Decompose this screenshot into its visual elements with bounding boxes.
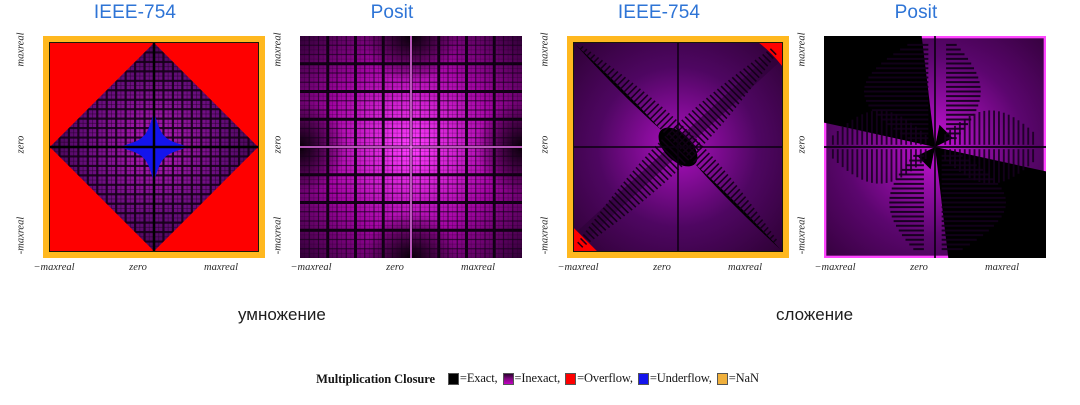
legend-item-nan: =NaN <box>717 371 759 386</box>
legend-label: =NaN <box>729 371 759 386</box>
plot-canvas <box>824 36 1046 258</box>
plot-canvas <box>49 42 259 252</box>
legend-label: =Underflow, <box>650 371 712 386</box>
legend-label: =Inexact, <box>515 371 561 386</box>
x-axis-tick: −maxreal <box>23 262 85 273</box>
closure-panel-ieee-mul: IEEE-754maxrealzero-maxreal−maxrealzerom… <box>0 0 270 290</box>
legend-item-underflow: =Underflow, <box>638 371 712 386</box>
legend-swatch-underflow-icon <box>638 373 649 385</box>
y-axis-tick: -maxreal <box>797 207 808 265</box>
plot-area <box>567 36 789 258</box>
y-axis-tick: -maxreal <box>273 207 284 265</box>
closure-panel-posit-mul: Positmaxrealzero-maxreal−maxrealzeromaxr… <box>257 0 527 290</box>
x-axis-tick: zero <box>107 262 169 273</box>
closure-panel-ieee-add: IEEE-754maxrealzero-maxreal−maxrealzerom… <box>524 0 794 290</box>
panel-title: IEEE-754 <box>524 2 794 24</box>
y-axis-tick: maxreal <box>797 21 808 79</box>
legend-swatch-nan-icon <box>717 373 728 385</box>
panel-title: Posit <box>781 2 1051 24</box>
plot-area <box>300 36 522 258</box>
panel-title: Posit <box>257 2 527 24</box>
legend-title: Multiplication Closure <box>316 372 435 387</box>
x-axis-tick: −maxreal <box>280 262 342 273</box>
legend-item-overflow: =Overflow, <box>565 371 633 386</box>
legend-label: =Overflow, <box>577 371 633 386</box>
legend: Multiplication Closure =Exact,=Inexact,=… <box>0 371 1080 389</box>
y-axis-tick: maxreal <box>273 21 284 79</box>
y-axis-tick: zero <box>16 116 27 174</box>
x-axis-tick: maxreal <box>190 262 252 273</box>
plot-area <box>824 36 1046 258</box>
x-axis-tick: −maxreal <box>547 262 609 273</box>
y-axis-tick: zero <box>797 116 808 174</box>
plot-canvas <box>573 42 783 252</box>
y-axis-tick: maxreal <box>16 21 27 79</box>
legend-label: =Exact, <box>460 371 498 386</box>
caption-multiplication: умножение <box>238 305 326 325</box>
y-axis-tick: zero <box>540 116 551 174</box>
legend-item-exact: =Exact, <box>448 371 498 386</box>
y-axis-tick: maxreal <box>540 21 551 79</box>
legend-items: =Exact,=Inexact,=Overflow,=Underflow,=Na… <box>448 371 764 389</box>
y-axis-tick: -maxreal <box>16 207 27 265</box>
closure-panel-posit-add: Positmaxrealzero-maxreal−maxrealzeromaxr… <box>781 0 1051 290</box>
legend-swatch-overflow-icon <box>565 373 576 385</box>
x-axis-tick: zero <box>888 262 950 273</box>
x-axis-tick: maxreal <box>971 262 1033 273</box>
legend-swatch-exact-icon <box>448 373 459 385</box>
plot-canvas <box>300 36 522 258</box>
caption-addition: сложение <box>776 305 853 325</box>
x-axis-tick: −maxreal <box>804 262 866 273</box>
x-axis-tick: maxreal <box>447 262 509 273</box>
x-axis-tick: maxreal <box>714 262 776 273</box>
x-axis-tick: zero <box>364 262 426 273</box>
plot-area <box>43 36 265 258</box>
legend-swatch-inexact-icon <box>503 373 514 385</box>
x-axis-tick: zero <box>631 262 693 273</box>
legend-item-inexact: =Inexact, <box>503 371 561 386</box>
panel-title: IEEE-754 <box>0 2 270 24</box>
y-axis-tick: -maxreal <box>540 207 551 265</box>
y-axis-tick: zero <box>273 116 284 174</box>
